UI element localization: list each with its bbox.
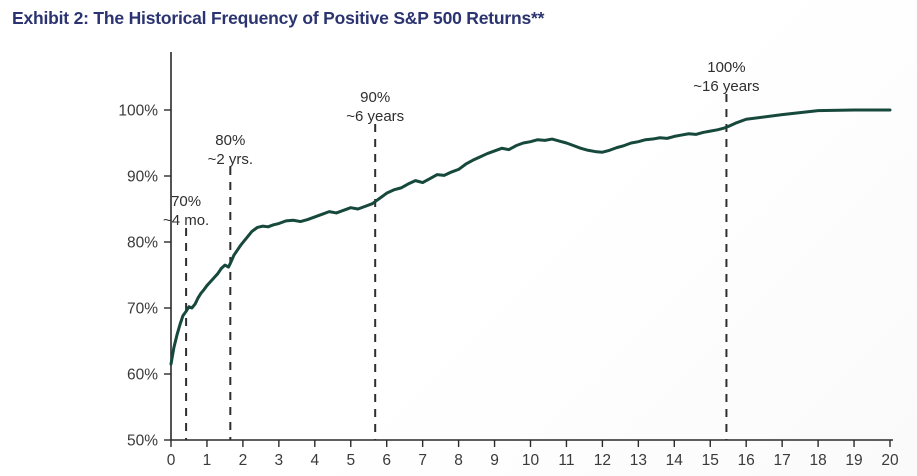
x-tick-label: 20 — [881, 452, 899, 469]
x-tick-label: 4 — [310, 452, 319, 469]
page-title: Exhibit 2: The Historical Frequency of P… — [12, 8, 544, 29]
x-tick-label: 14 — [666, 452, 684, 469]
x-tick-label: 5 — [346, 452, 355, 469]
chart-container: 50%60%70%80%90%100% 01234567891011121314… — [0, 40, 917, 476]
x-tick-label: 1 — [203, 452, 212, 469]
x-tick-label: 16 — [738, 452, 755, 469]
chart-page: Exhibit 2: The Historical Frequency of P… — [0, 0, 917, 476]
x-tick-label: 7 — [418, 452, 427, 469]
annotation-period-anno-100: ~16 years — [693, 78, 759, 95]
annotation-period-anno-90: ~6 years — [346, 108, 404, 125]
data-series-line — [171, 110, 890, 364]
y-tick-label: 60% — [127, 367, 158, 384]
x-tick-label: 9 — [490, 452, 499, 469]
annotation-period-anno-80: ~2 yrs. — [208, 151, 253, 168]
annotation-lines-group — [186, 94, 726, 440]
x-tick-label: 19 — [845, 452, 862, 469]
x-tick-label: 8 — [454, 452, 463, 469]
x-tick-label: 15 — [702, 452, 719, 469]
x-tick-label: 6 — [382, 452, 391, 469]
x-tick-label: 17 — [774, 452, 791, 469]
line-chart: 50%60%70%80%90%100% 01234567891011121314… — [0, 40, 917, 476]
x-tick-label: 12 — [594, 452, 611, 469]
x-tick-label: 11 — [558, 452, 574, 469]
annotation-labels-group: 70%~4 mo.80%~2 yrs.90%~6 years100%~16 ye… — [163, 59, 760, 229]
annotation-pct-anno-90: 90% — [360, 89, 390, 106]
x-tick-label: 10 — [522, 452, 540, 469]
x-tick-label: 13 — [630, 452, 647, 469]
x-tick-label: 0 — [167, 452, 176, 469]
y-tick-label: 100% — [118, 103, 158, 120]
x-tick-group: 01234567891011121314151617181920 — [167, 440, 899, 469]
annotation-pct-anno-80: 80% — [215, 132, 245, 149]
annotation-period-anno-70: ~4 mo. — [163, 212, 209, 229]
y-tick-label: 50% — [127, 433, 158, 450]
x-tick-label: 3 — [275, 452, 284, 469]
x-tick-label: 18 — [809, 452, 826, 469]
y-tick-label: 90% — [127, 169, 158, 186]
y-tick-label: 80% — [127, 235, 158, 252]
y-tick-label: 70% — [127, 301, 158, 318]
x-tick-label: 2 — [239, 452, 248, 469]
annotation-pct-anno-100: 100% — [707, 59, 745, 76]
y-tick-group: 50%60%70%80%90%100% — [118, 103, 171, 450]
annotation-pct-anno-70: 70% — [171, 193, 201, 210]
